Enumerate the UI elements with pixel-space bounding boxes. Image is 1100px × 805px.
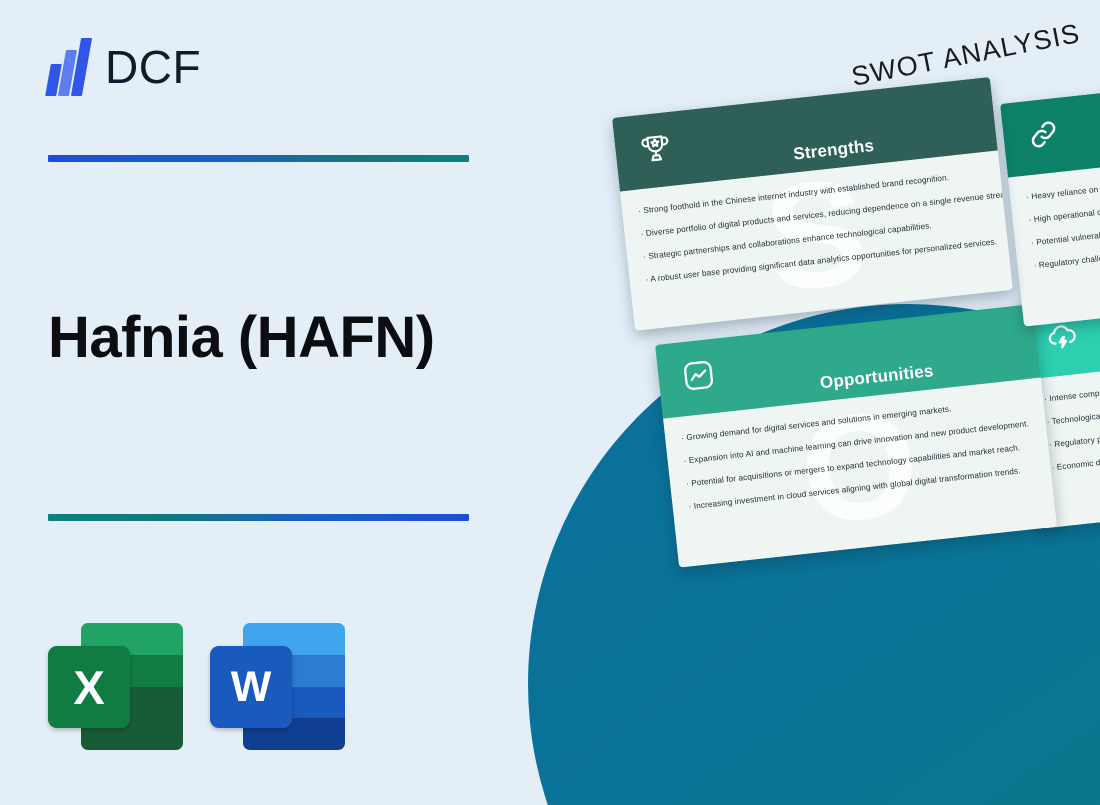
divider-top <box>48 155 469 162</box>
excel-letter-badge: X <box>48 646 130 728</box>
brand-logo[interactable]: DCF <box>48 38 201 96</box>
swot-quadrant-strengths[interactable]: Strengths S Strong foothold in the Chine… <box>612 77 1013 331</box>
slide-canvas: SWOT ANALYSIS Strengths <box>0 0 1100 805</box>
word-letter-badge: W <box>210 646 292 728</box>
word-file-icon[interactable]: W <box>210 620 345 753</box>
divider-bottom <box>48 514 469 521</box>
swot-quadrant-weaknesses[interactable]: Weaknesses W Heavy reliance on the domes… <box>1000 63 1100 327</box>
quadrant-header-weaknesses: Weaknesses <box>1000 63 1100 178</box>
bar-chart-logo-icon <box>48 38 92 96</box>
opportunities-list: Growing demand for digital services and … <box>681 395 1034 512</box>
list-item: A robust user base providing significant… <box>645 237 990 285</box>
strengths-list: Strong foothold in the Chinese internet … <box>638 168 991 285</box>
page-title: Hafnia (HAFN) <box>48 308 518 369</box>
list-item: Increasing investment in cloud services … <box>688 464 1033 512</box>
brand-name: DCF <box>105 44 201 90</box>
swot-quadrant-opportunities[interactable]: Opportunities O Growing demand for digit… <box>655 304 1057 568</box>
excel-file-icon[interactable]: X <box>48 620 183 753</box>
file-download-icons: X W <box>48 620 345 753</box>
left-column: DCF Hafnia (HAFN) X W <box>0 0 540 805</box>
